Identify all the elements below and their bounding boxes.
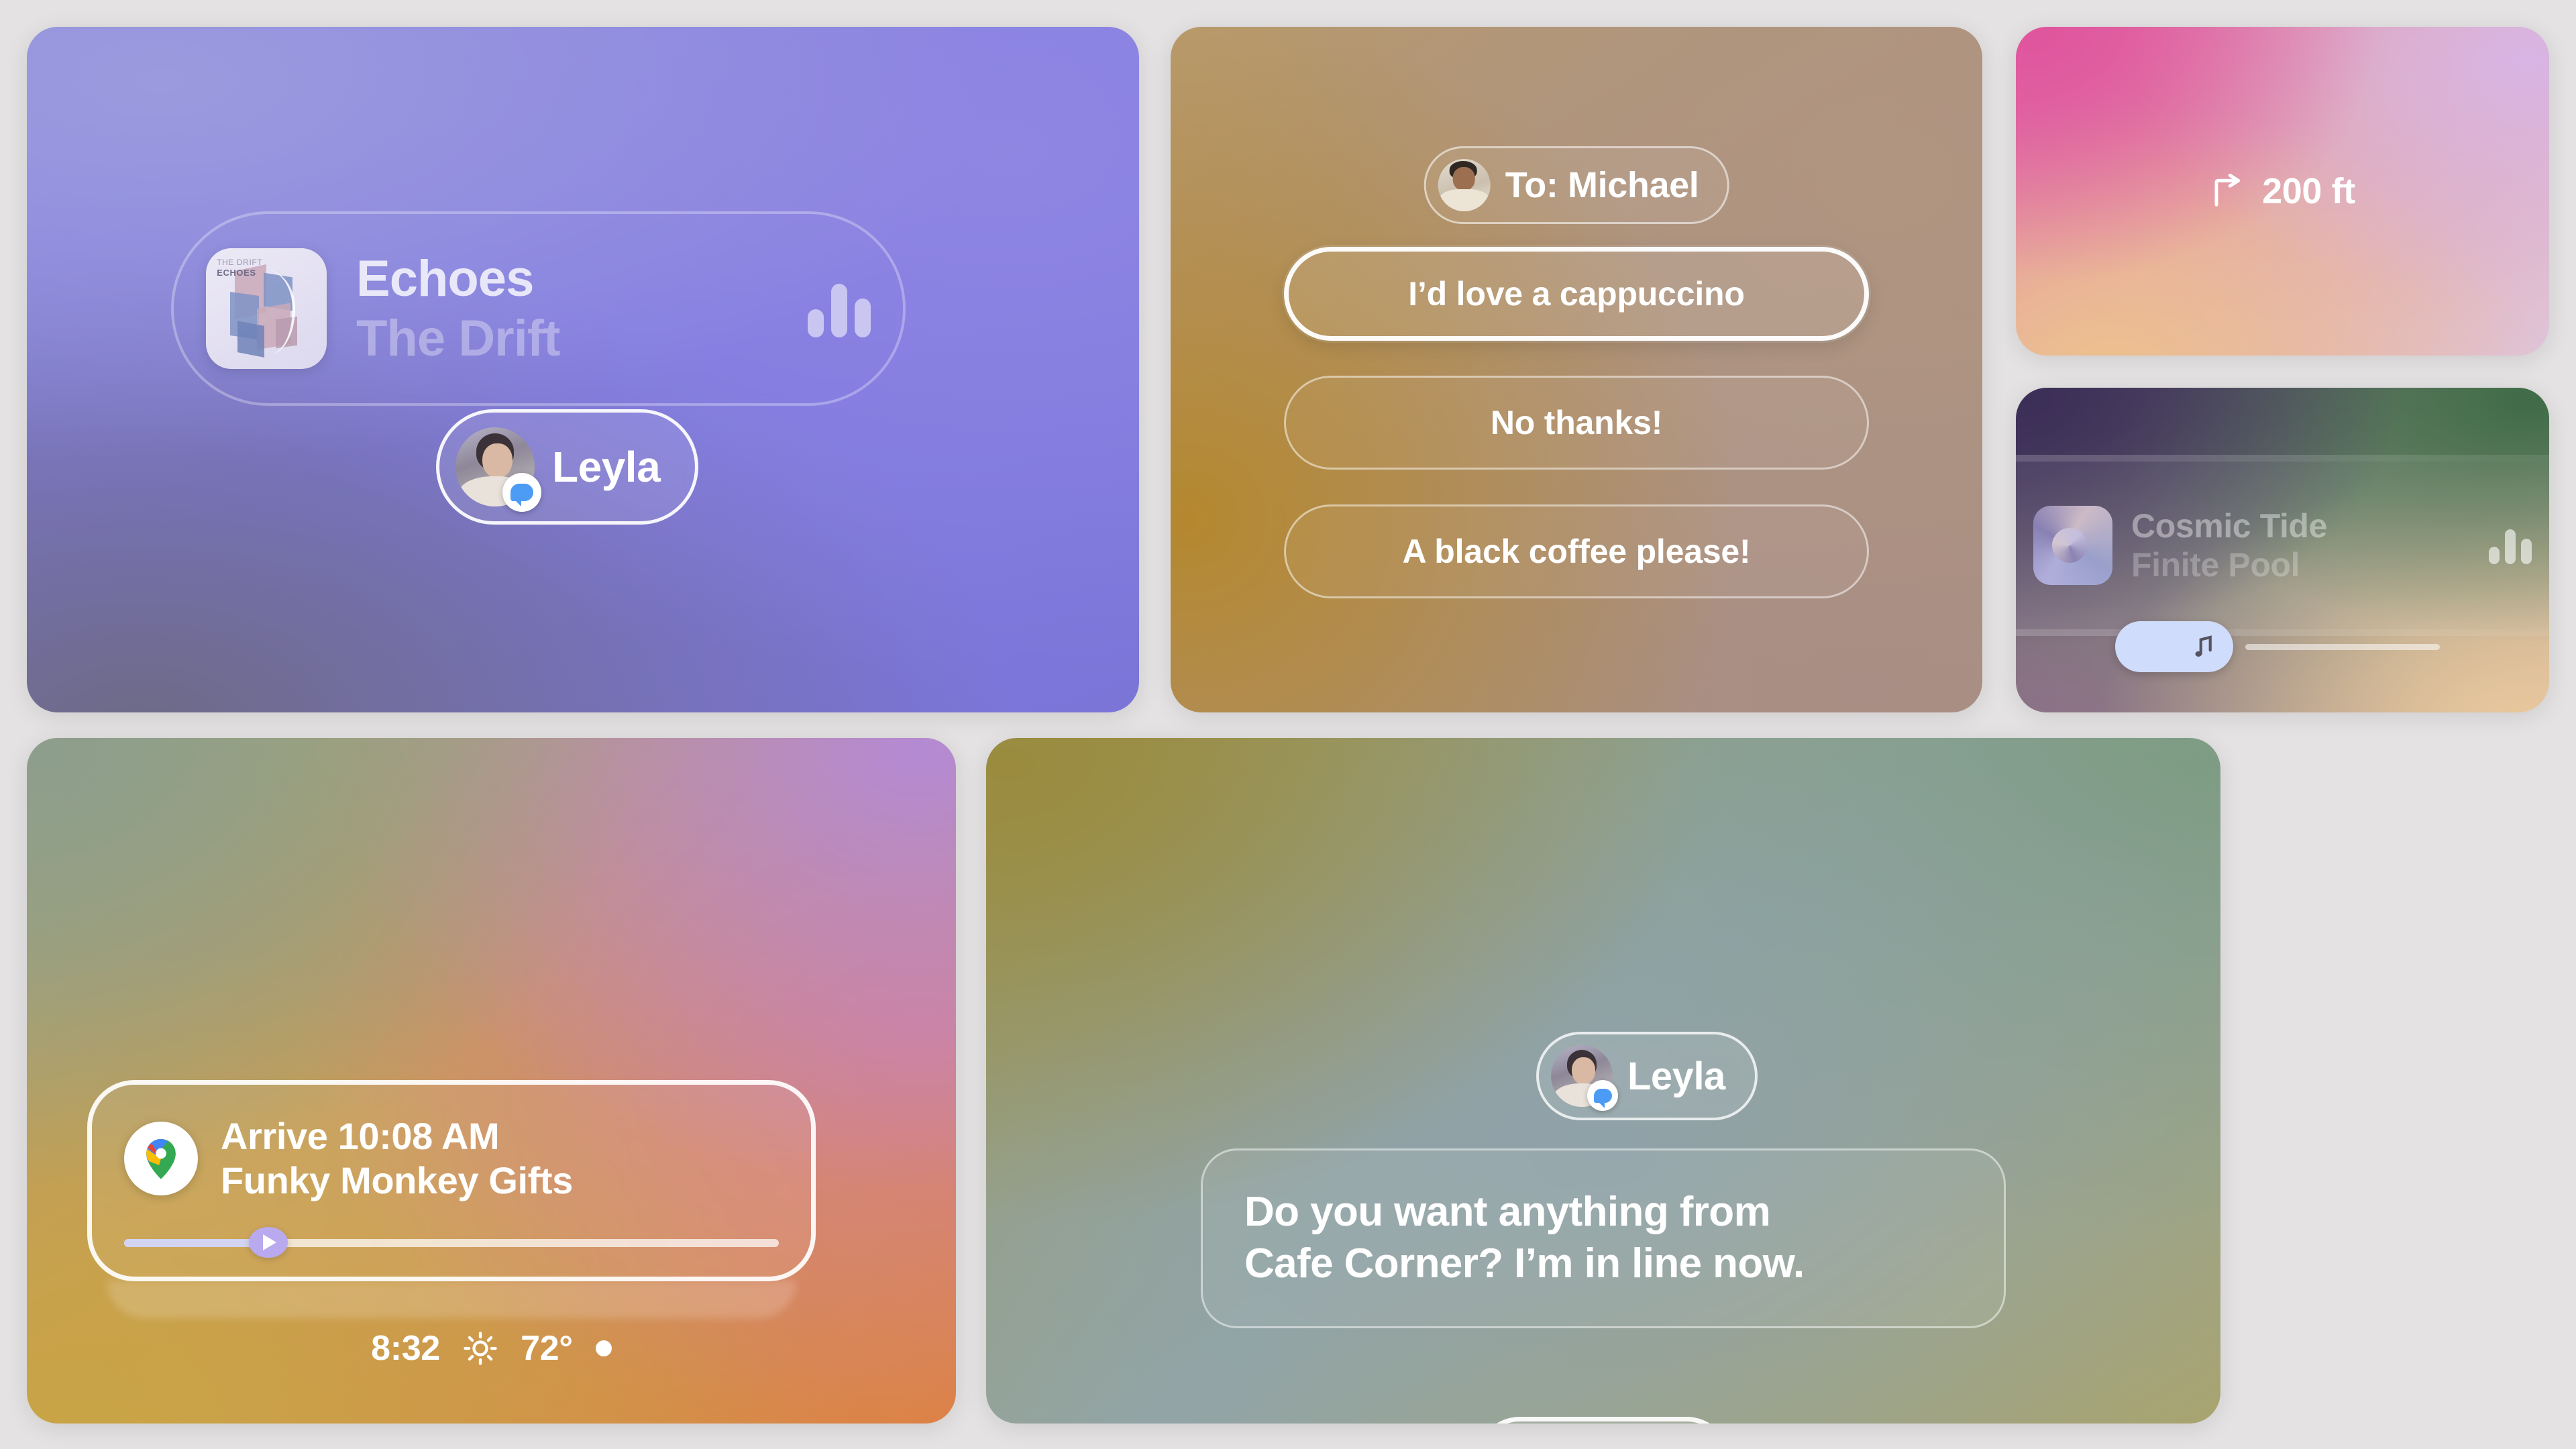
music-scrubber[interactable] [2115, 621, 2440, 672]
eta-panel[interactable]: Arrive 10:08 AM Funky Monkey Gifts [87, 1080, 816, 1281]
scrubber-knob[interactable] [2115, 621, 2233, 672]
recipient-pill[interactable]: To: Michael [1424, 146, 1729, 224]
card-now-playing-cosmic-tide[interactable]: Cosmic Tide Finite Pool [2016, 388, 2549, 712]
track-title: Cosmic Tide [2131, 506, 2327, 545]
avatar [1551, 1045, 1613, 1107]
glass-band-top [2016, 455, 2549, 462]
track-artist: Finite Pool [2131, 545, 2327, 584]
messages-bubble-icon [1587, 1080, 1618, 1111]
card-reply-suggestions[interactable]: To: Michael I’d love a cappuccino No tha… [1171, 27, 1982, 712]
card-now-playing-echoes[interactable]: THE DRIFT ECHOES Echoes The Drift Leyla [27, 27, 1139, 712]
reply-option-1[interactable]: No thanks! [1284, 376, 1869, 470]
sender-name: Leyla [552, 442, 660, 492]
card-navigation[interactable]: 200 ft [2016, 27, 2549, 356]
status-time: 8:32 [371, 1328, 440, 1368]
widget-board: THE DRIFT ECHOES Echoes The Drift Leyla [0, 0, 2576, 1449]
recipient-label: To: Michael [1505, 164, 1699, 206]
message-line-1: Do you want anything from [1244, 1187, 1962, 1238]
music-note-icon [2190, 630, 2218, 663]
now-playing-panel[interactable]: Cosmic Tide Finite Pool [2016, 462, 2549, 629]
card-incoming-message[interactable]: Leyla Do you want anything from Cafe Cor… [986, 738, 2220, 1424]
status-dot-icon [596, 1340, 612, 1356]
status-temperature: 72° [521, 1328, 573, 1368]
track-meta: Echoes The Drift [356, 250, 559, 368]
play-arrow-icon [263, 1234, 276, 1250]
sender-pill-leyla[interactable]: Leyla [436, 409, 698, 525]
google-maps-pin-icon [124, 1122, 198, 1195]
reply-button[interactable]: Reply [1477, 1417, 1730, 1424]
sender-name: Leyla [1627, 1054, 1725, 1099]
navigation-distance: 200 ft [2262, 170, 2355, 212]
album-art-icon: THE DRIFT ECHOES [206, 248, 327, 369]
avatar [455, 427, 535, 506]
message-bubble: Do you want anything from Cafe Corner? I… [1201, 1148, 2006, 1328]
track-title: Echoes [356, 250, 559, 308]
track-artist: The Drift [356, 309, 559, 368]
slider-knob[interactable] [249, 1227, 288, 1258]
reply-option-0[interactable]: I’d love a cappuccino [1284, 247, 1869, 341]
eta-arrival-time: Arrive 10:08 AM [221, 1114, 573, 1159]
equalizer-icon [2489, 527, 2532, 564]
equalizer-icon [808, 280, 871, 337]
slider-fill [124, 1239, 268, 1247]
avatar [1438, 159, 1491, 211]
eta-destination: Funky Monkey Gifts [221, 1159, 573, 1203]
album-art-caption: THE DRIFT ECHOES [217, 258, 262, 278]
reply-option-2[interactable]: A black coffee please! [1284, 504, 1869, 598]
route-progress-slider[interactable] [124, 1227, 779, 1258]
album-art-swirl-icon [2033, 506, 2112, 585]
messages-bubble-icon [502, 473, 541, 512]
now-playing-bar[interactable]: THE DRIFT ECHOES Echoes The Drift [171, 211, 906, 406]
status-row: 8:32 72° [27, 1328, 956, 1368]
card-maps-eta[interactable]: Arrive 10:08 AM Funky Monkey Gifts 8:32 … [27, 738, 956, 1424]
sun-icon [463, 1331, 498, 1366]
message-line-2: Cafe Corner? I’m in line now. [1244, 1238, 1962, 1290]
sender-pill-leyla[interactable]: Leyla [1536, 1032, 1758, 1120]
scrubber-track[interactable] [2245, 644, 2440, 650]
turn-right-icon [2210, 173, 2247, 209]
